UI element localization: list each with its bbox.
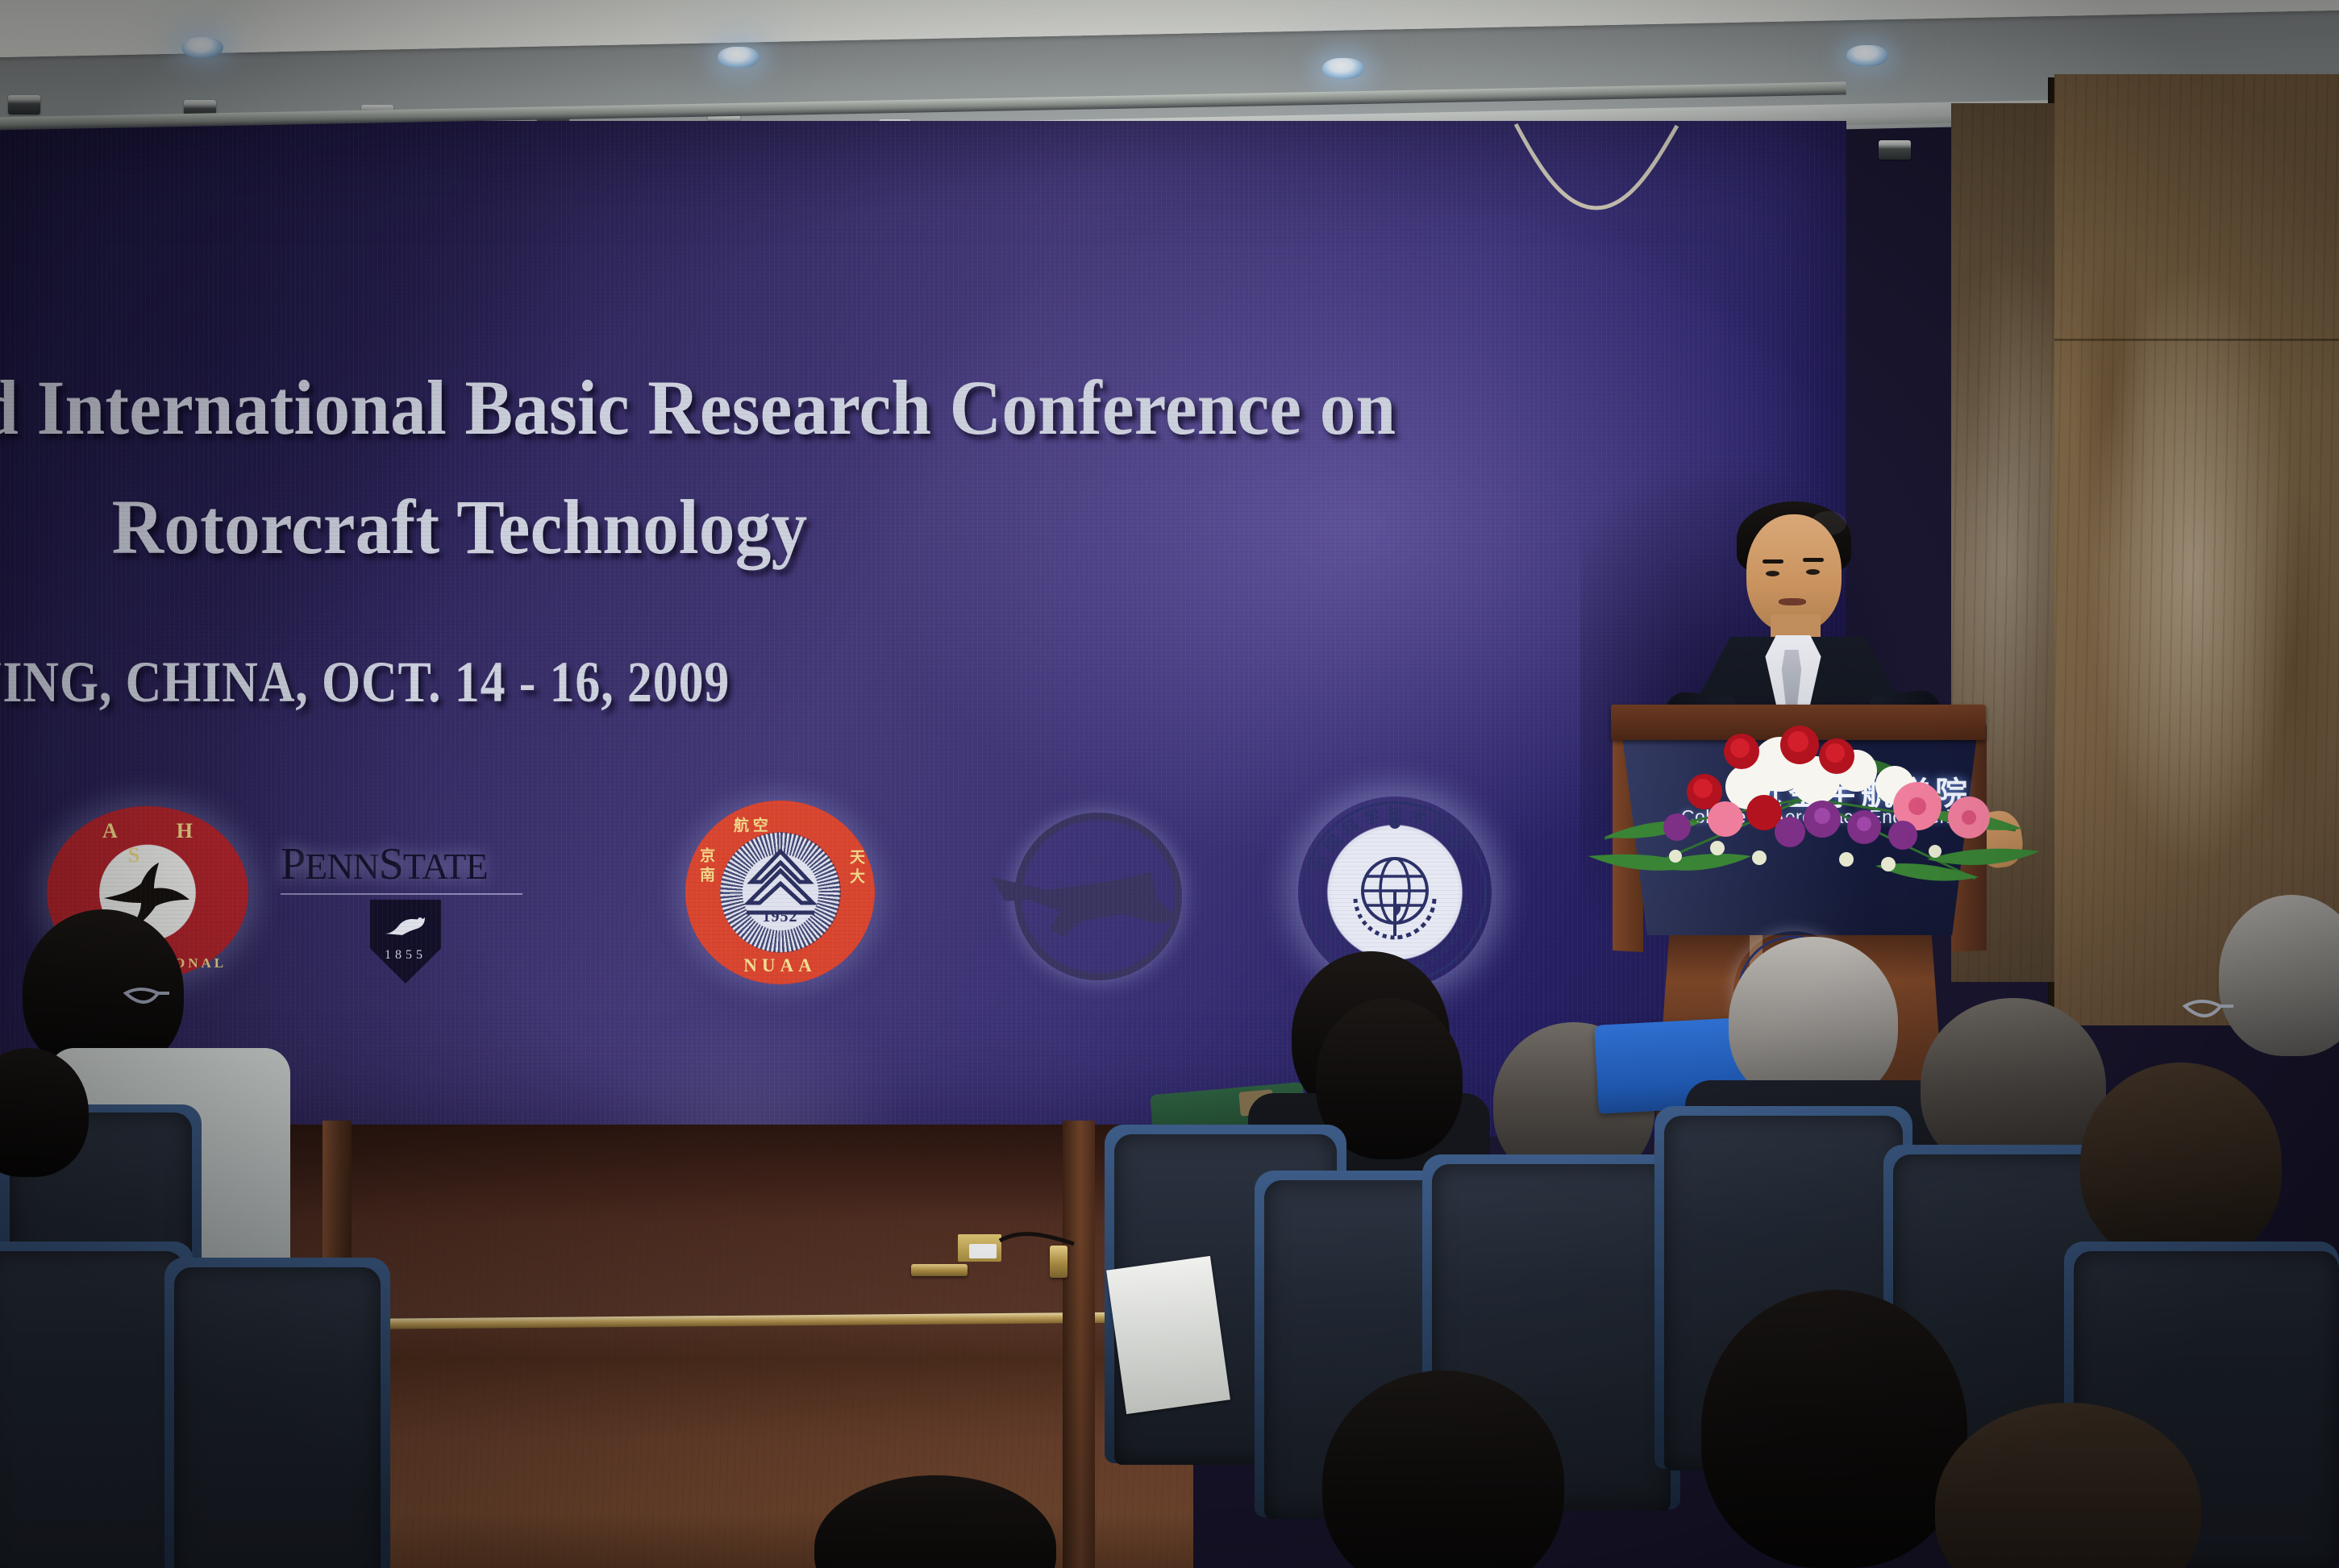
ps-s: S [379, 839, 403, 889]
stage-floor-socket-left [911, 1264, 968, 1276]
podium-flower-arrangement [1556, 677, 2072, 911]
hanging-cable-icon [1508, 121, 1830, 218]
penn-state-rule [281, 893, 522, 895]
speaker-brow-right [1803, 558, 1824, 562]
banner-title-line-2: Rotorcraft Technology [0, 482, 1330, 572]
ceiling-vent-icon [8, 95, 40, 114]
microphone-cable-icon [998, 1231, 1087, 1263]
nuaa-chinese-left: 京 南 [695, 847, 717, 882]
nuaa-chinese-right: 天 大 [845, 849, 867, 884]
glasses-icon [121, 982, 218, 1014]
flower-bouquet-icon [1556, 677, 2072, 911]
program-paper [1106, 1256, 1230, 1414]
speaker-brow-left [1763, 559, 1783, 564]
banner-title-line-1: 3rd International Basic Research Confere… [0, 363, 1523, 452]
penn-state-year: 1855 [370, 948, 441, 963]
aircraft-in-circle-icon [985, 840, 1203, 953]
nittany-lion-icon [383, 913, 428, 938]
speaker-mouth [1779, 598, 1806, 605]
banner-bottom-fold [583, 984, 933, 1137]
glasses-icon [2177, 993, 2274, 1025]
penn-state-shield: 1855 [370, 900, 441, 984]
ceiling-vent-icon [1879, 140, 1911, 160]
downlight-icon [1322, 58, 1364, 79]
logo-nuaa: 航 空 天 大 京 南 1952 NUAA [685, 801, 875, 984]
audience-head [1701, 1290, 1967, 1568]
nuaa-year: 1952 [685, 908, 875, 926]
banner-creases [0, 121, 1846, 1137]
ps-enn: ENN [305, 846, 379, 887]
wood-wall-panel-right [2054, 74, 2339, 1025]
seat [174, 1267, 381, 1568]
downlight-icon [181, 37, 223, 58]
conference-hall-photo: 3rd International Basic Research Confere… [0, 0, 2339, 1568]
audience-head [2080, 1063, 2282, 1264]
stage-right-edge [1063, 1121, 1095, 1568]
speaker-eye-right [1806, 569, 1820, 575]
penn-state-wordmark: PENNSTATE [281, 838, 531, 890]
ps-tate: TATE [403, 846, 488, 887]
banner-subtitle: NANJING, CHINA, OCT. 14 - 16, 2009 [0, 649, 1103, 716]
seat [0, 1251, 184, 1568]
wood-panel-seam [2054, 339, 2339, 341]
downlight-icon [718, 47, 760, 68]
downlight-icon [1846, 45, 1888, 66]
logo-csaa [1000, 806, 1197, 979]
conference-backdrop-banner: 3rd International Basic Research Confere… [0, 121, 1846, 1137]
globe-gear-wheat-icon [1347, 849, 1442, 944]
speaker-eye-left [1766, 571, 1779, 576]
stage-microphone-jack [958, 1234, 1001, 1262]
nuaa-chinese-top: 航 空 [734, 813, 768, 835]
logo-penn-state: PENNSTATE 1855 [281, 838, 531, 984]
ps-p: P [281, 839, 305, 889]
nuaa-name: NUAA [685, 955, 875, 976]
